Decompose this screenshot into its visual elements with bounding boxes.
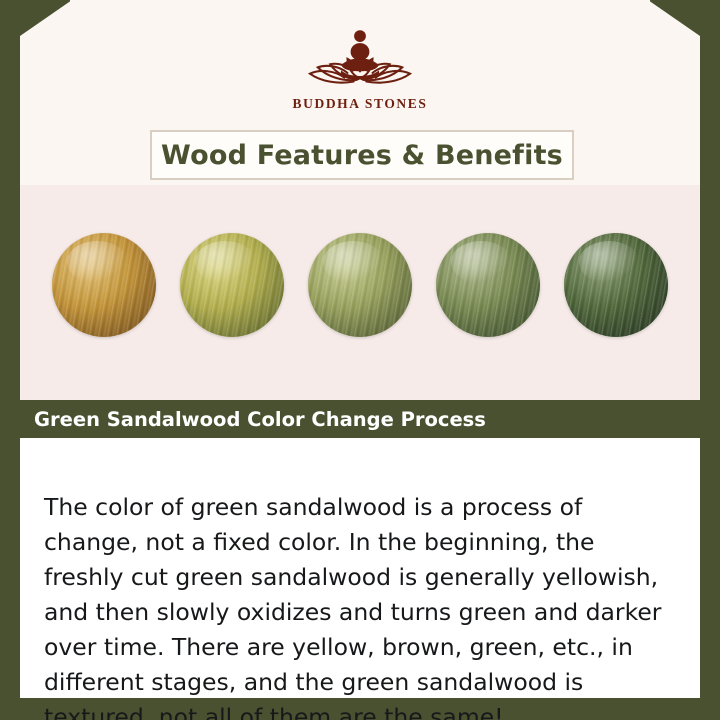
bead-shading-1 [52, 233, 156, 337]
bead-shading-2 [180, 233, 284, 337]
bead-shading-4 [436, 233, 540, 337]
section-heading-ribbon-tail [520, 400, 544, 438]
body-card: The color of green sandalwood is a proce… [20, 438, 700, 698]
page-title: Wood Features & Benefits [150, 130, 574, 180]
bead-gloss-1 [67, 241, 127, 283]
bead-gloss-2 [195, 241, 255, 283]
bead-image-2 [180, 233, 284, 337]
section-heading-ribbon: Green Sandalwood Color Change Process [20, 400, 520, 438]
bead-image-3 [308, 233, 412, 337]
lotus-buddha-icon [280, 22, 440, 94]
section-heading-text: Green Sandalwood Color Change Process [20, 408, 486, 431]
bead-shading-3 [308, 233, 412, 337]
page-title-text: Wood Features & Benefits [161, 140, 563, 171]
body-paragraph: The color of green sandalwood is a proce… [44, 490, 680, 720]
brand-name: BUDDHA STONES [0, 96, 720, 112]
bead-image-1 [52, 233, 156, 337]
bead-shading-5 [564, 233, 668, 337]
bead-gloss-5 [579, 241, 639, 283]
bead-gloss-4 [451, 241, 511, 283]
bead-image-4 [436, 233, 540, 337]
brand-logo: BUDDHA STONES [0, 22, 720, 112]
bead-gloss-3 [323, 241, 383, 283]
poster-root: BUDDHA STONES Wood Features & Benefits [0, 0, 720, 720]
bead-gallery [20, 185, 700, 400]
bead-image-5 [564, 233, 668, 337]
bead-row [20, 233, 700, 337]
